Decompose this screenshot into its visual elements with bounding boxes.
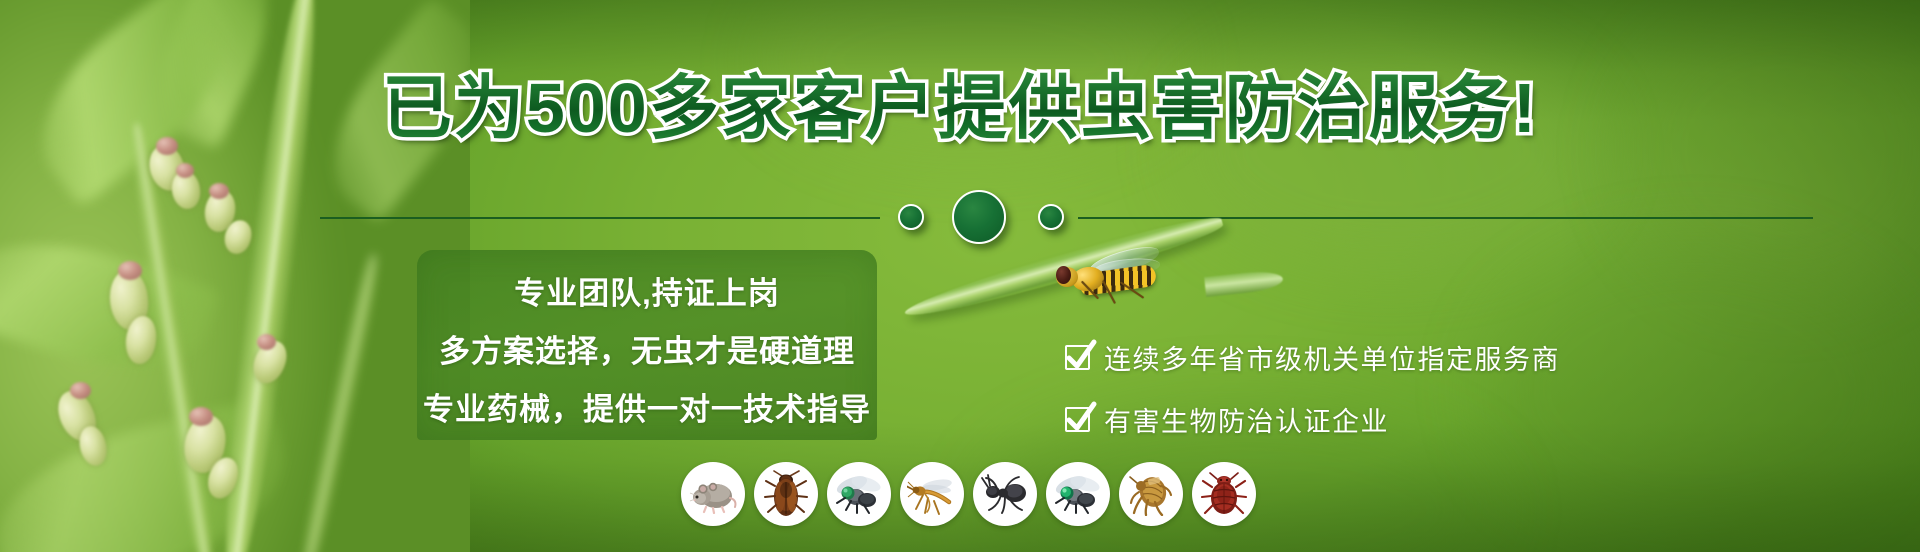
- bedbug-icon: [1201, 471, 1247, 517]
- panel-line-1: 专业团队,持证上岗: [417, 268, 877, 313]
- cockroach-icon: [763, 470, 809, 518]
- divider-line-right: [1078, 217, 1813, 219]
- check-box-icon: [1065, 407, 1090, 432]
- pest-badge[interactable]: 蟑螂: [754, 462, 818, 526]
- list-item: 有害生物防治认证企业: [1065, 396, 1560, 442]
- pest-badge[interactable]: 臭虫: [1192, 462, 1256, 526]
- greenbottle-fly-icon: [1053, 473, 1103, 515]
- pest-badge[interactable]: 蚂蚁: [973, 462, 1037, 526]
- pest-badge[interactable]: 鼠: [681, 462, 745, 526]
- bullet-label: 有害生物防治认证企业: [1104, 400, 1389, 439]
- plant-photo: [0, 0, 470, 552]
- pest-badge[interactable]: 绿头蝇: [1046, 462, 1110, 526]
- pest-icon-badge-row: 鼠 蟑螂: [681, 462, 1256, 526]
- divider-large-dot-center: [952, 190, 1006, 244]
- housefly-icon: [834, 473, 884, 515]
- divider-small-dot-right: [1038, 204, 1064, 230]
- certification-bullet-list: 连续多年省市级机关单位指定服务商 有害生物防治认证企业: [1065, 334, 1560, 458]
- flea-icon: [1128, 472, 1174, 516]
- check-box-icon: [1065, 345, 1090, 370]
- pest-badge[interactable]: 苍蝇: [827, 462, 891, 526]
- hoverfly-icon: [1052, 247, 1182, 311]
- ant-icon: [981, 473, 1029, 515]
- panel-line-3: 专业药械，提供一对一技术指导: [417, 384, 877, 429]
- divider-small-dot-left: [898, 204, 924, 230]
- bullet-label: 连续多年省市级机关单位指定服务商: [1104, 338, 1560, 377]
- pest-badge[interactable]: 蚊子: [900, 462, 964, 526]
- pest-badge[interactable]: 跳蚤: [1119, 462, 1183, 526]
- selling-points-panel: 专业团队,持证上岗 多方案选择，无虫才是硬道理 专业药械，提供一对一技术指导: [417, 250, 877, 440]
- list-item: 连续多年省市级机关单位指定服务商: [1065, 334, 1560, 380]
- divider-line-left: [320, 217, 880, 219]
- pest-control-promo-banner: 已为500多家客户提供虫害防治服务! 已为500多家客户提供虫害防治服务! 专业…: [0, 0, 1920, 552]
- panel-line-2: 多方案选择，无虫才是硬道理: [417, 326, 877, 371]
- mosquito-icon: [907, 472, 957, 516]
- mouse-icon: [689, 474, 737, 514]
